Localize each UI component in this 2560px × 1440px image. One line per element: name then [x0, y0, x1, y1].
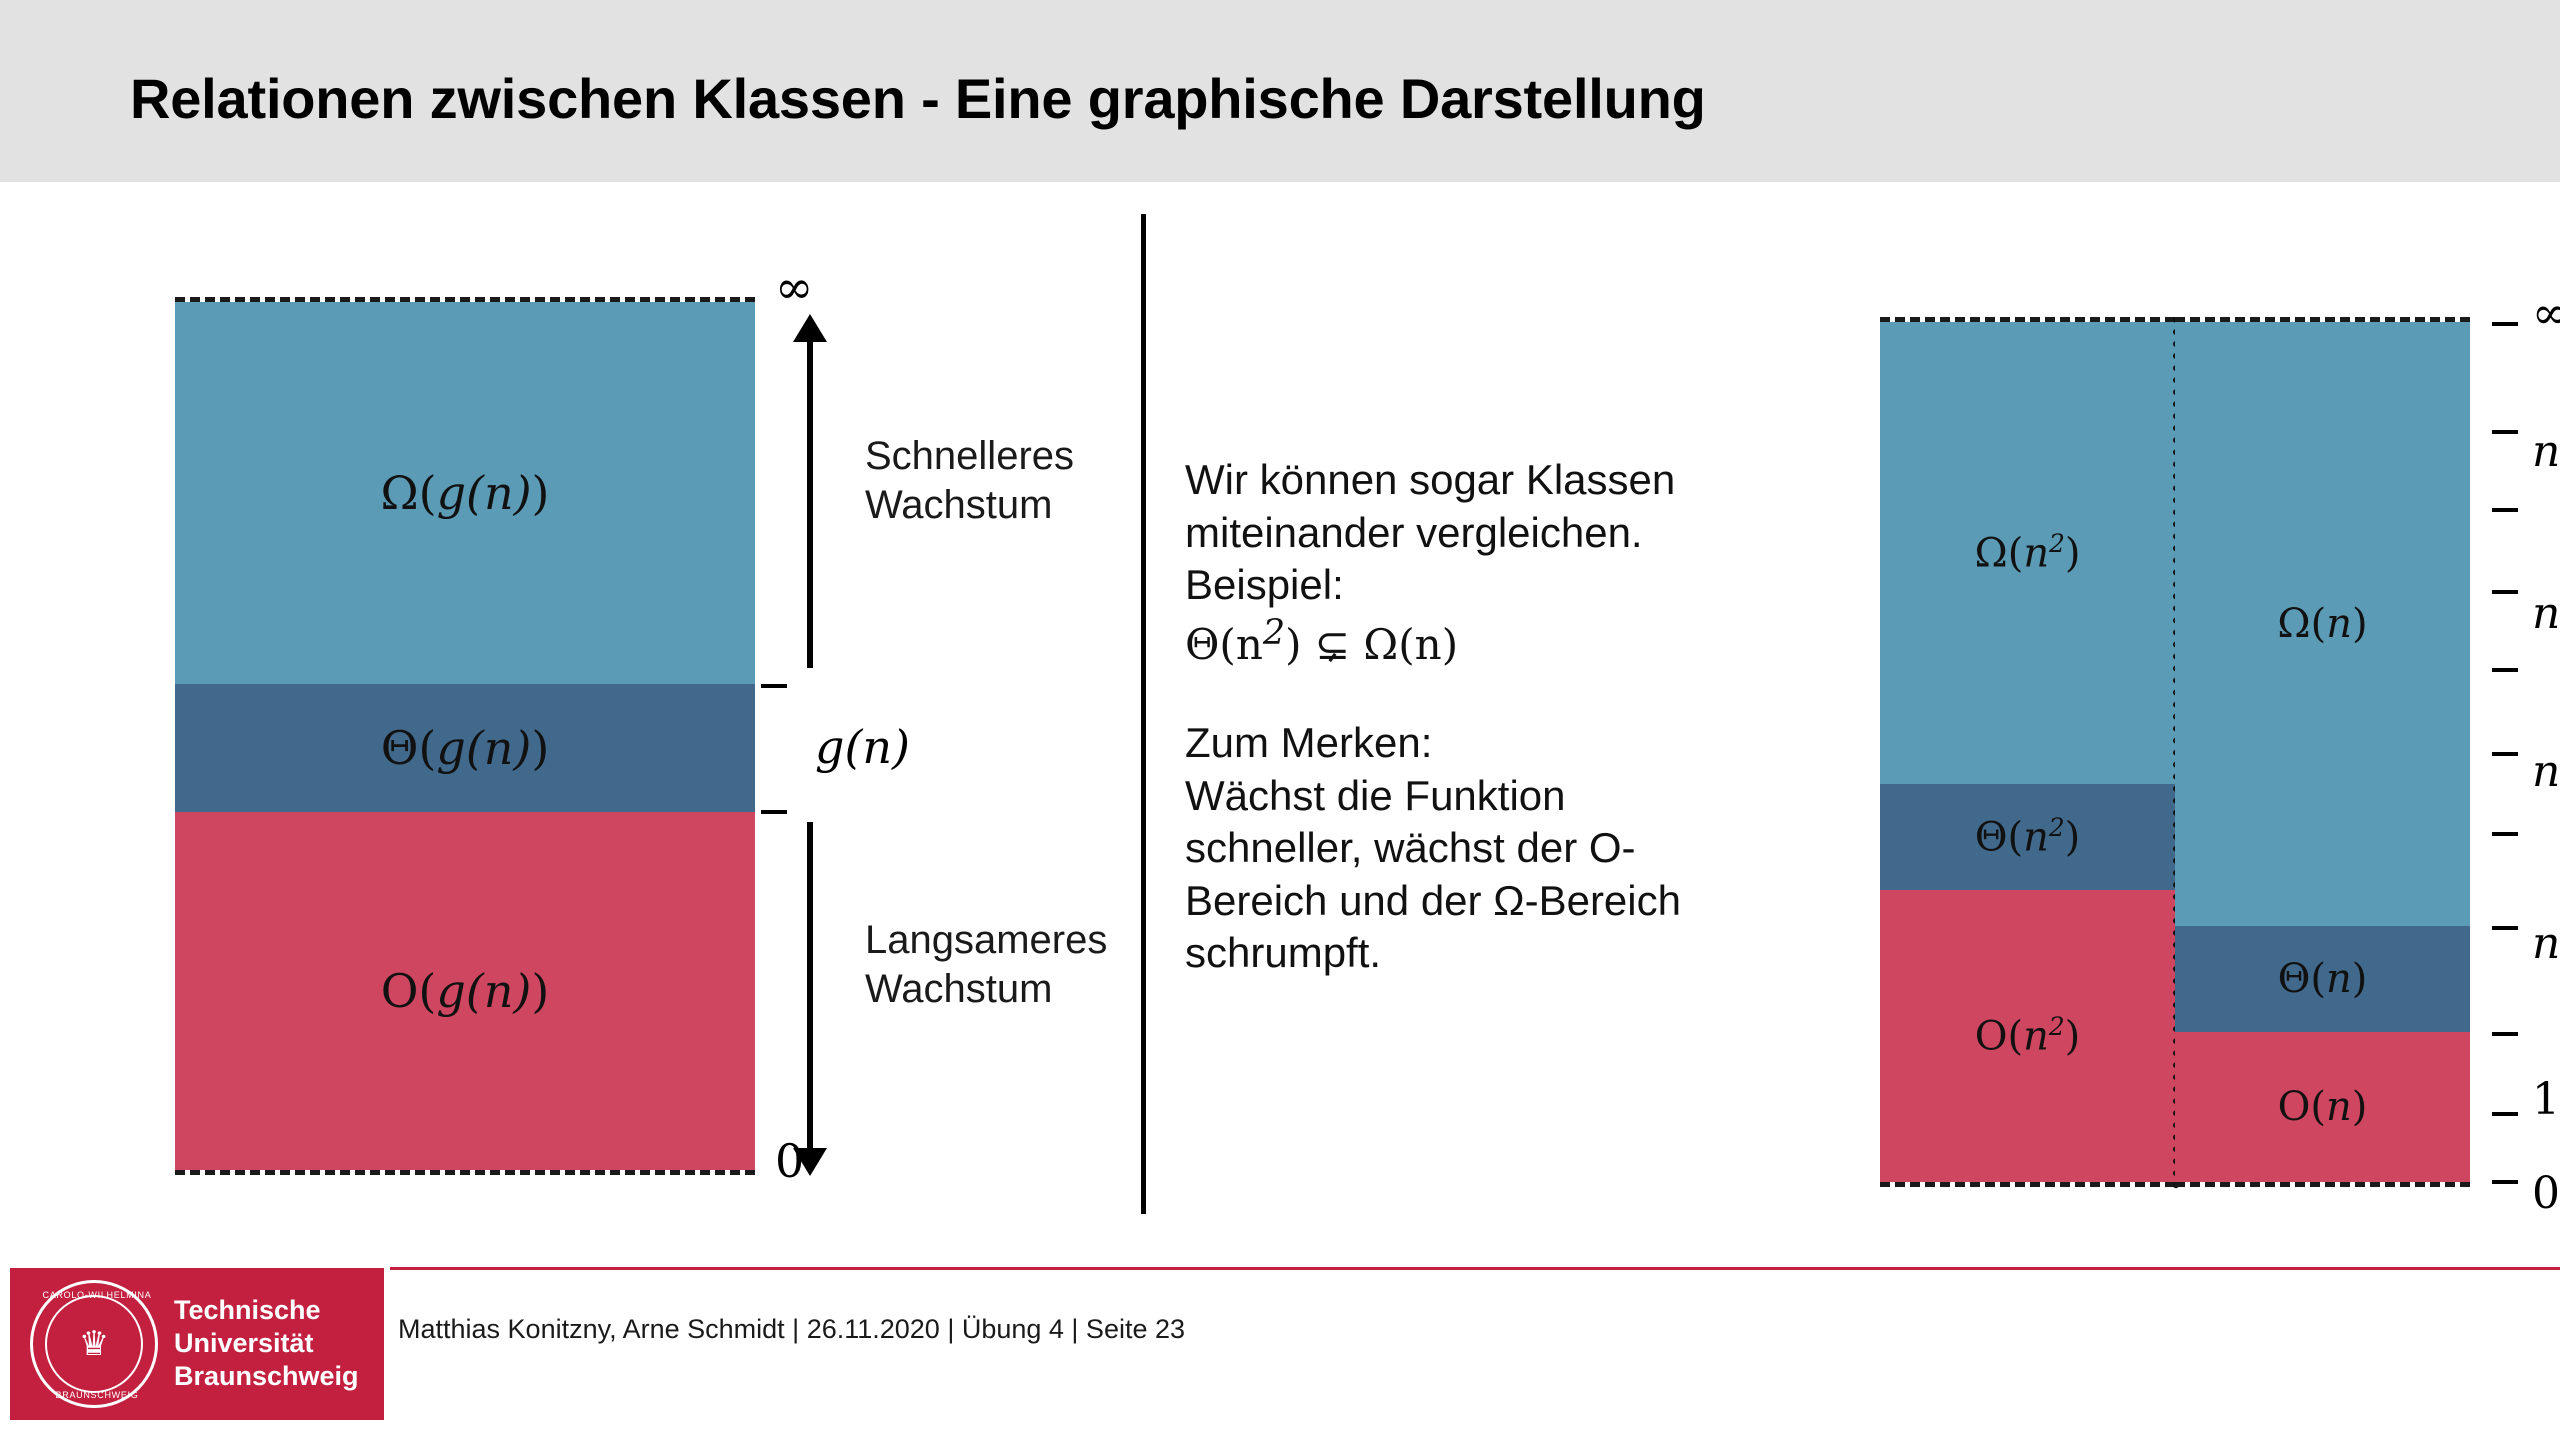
right-segment-omega-n2: Ω(n2) — [1880, 322, 2175, 784]
right-segment-bigo-n2: O(n2) — [1880, 890, 2175, 1182]
example-formula: Θ(n2) ⊊ Ω(n) — [1185, 612, 1915, 672]
theta-n2-prefix: Θ( — [1975, 815, 2023, 861]
right-segment-theta-n2: Θ(n2) — [1880, 784, 2175, 890]
remember-line-2: Wächst die Funktion — [1185, 770, 1915, 823]
faster-growth-arrow — [807, 338, 813, 668]
omega-n-suffix: ) — [2352, 601, 2368, 647]
bigo-n2-prefix: O( — [1975, 1014, 2023, 1060]
omega-n2-var: n — [2023, 531, 2049, 577]
arrow-head-down-icon — [793, 1148, 827, 1176]
bigo-n-var: n — [2326, 1084, 2352, 1130]
scale-label-n2: n2 — [2532, 746, 2560, 797]
theta-paren-close: ) — [531, 721, 549, 775]
right-column-n-squared: Ω(n2) Θ(n2) O(n2) — [1880, 322, 2175, 1182]
scale-tick-n4-b — [2492, 508, 2518, 512]
logo-wordmark: Technische Universität Braunschweig — [174, 1294, 359, 1393]
scale-tick-zero — [2492, 1180, 2518, 1184]
omega-symbol: Ω( — [380, 466, 436, 520]
left-segment-theta-label: Θ(g(n)) — [381, 721, 550, 775]
scale-tick-infinity — [2492, 322, 2518, 326]
omega-paren-close: ) — [532, 466, 550, 520]
arrow-head-up-icon — [793, 314, 827, 342]
left-tick-lower — [761, 810, 787, 814]
left-segment-omega-label: Ω(g(n)) — [380, 466, 549, 520]
scale-label-n4-base: n — [2532, 426, 2560, 477]
right-segment-theta-n: Θ(n) — [2175, 926, 2470, 1032]
scale-tick-n2-a — [2492, 752, 2518, 756]
right-comparison-diagram: Ω(n2) Θ(n2) O(n2) Ω(n) Θ(n) O(n) — [1880, 322, 2490, 1182]
bigo-arg: g(n) — [436, 964, 531, 1018]
theta-symbol: Θ( — [381, 721, 437, 775]
scale-tick-n-a — [2492, 926, 2518, 930]
explanation-line-3: Beispiel: — [1185, 559, 1915, 612]
scale-label-n4: n4 — [2532, 426, 2560, 477]
scale-tick-one — [2492, 1112, 2518, 1116]
right-right-bottom-dashed-line — [2175, 1182, 2470, 1187]
theta-n-suffix: ) — [2352, 956, 2368, 1002]
left-segment-bigo-label: O(g(n)) — [381, 964, 550, 1018]
bigo-n-prefix: O( — [2278, 1084, 2326, 1130]
scale-label-n3: n3 — [2532, 588, 2560, 639]
explanation-line-2: miteinander vergleichen. — [1185, 507, 1915, 560]
logo-line-3: Braunschweig — [174, 1360, 359, 1393]
slower-growth-line1: Langsameres — [865, 916, 1107, 965]
page-title: Relationen zwischen Klassen - Eine graph… — [130, 66, 1706, 131]
scale-label-n3-base: n — [2532, 588, 2560, 639]
seal-text-bottom: BRAUNSCHWEIG — [33, 1390, 161, 1400]
explanation-line-1: Wir können sogar Klassen — [1185, 454, 1915, 507]
slower-growth-label: Langsameres Wachstum — [865, 916, 1107, 1014]
slide-footer: Matthias Konitzny, Arne Schmidt | 26.11.… — [0, 1252, 2560, 1440]
slide-header: Relationen zwischen Klassen - Eine graph… — [0, 0, 2560, 182]
scale-tick-n3-a — [2492, 590, 2518, 594]
omega-n2-suffix: ) — [2065, 531, 2081, 577]
scale-label-one: 1 — [2532, 1074, 2560, 1125]
right-segment-omega-n2-label: Ω(n2) — [1975, 529, 2081, 576]
bigo-paren-close: ) — [531, 964, 549, 1018]
scale-tick-n3-b — [2492, 668, 2518, 672]
theta-n-var: n — [2326, 956, 2352, 1002]
left-segment-theta: Θ(g(n)) — [175, 684, 755, 812]
slower-growth-arrow — [807, 822, 813, 1152]
theta-n2-sup: 2 — [2049, 813, 2065, 842]
scale-label-infinity: ∞ — [2532, 288, 2560, 339]
remember-line-5: schrumpft. — [1185, 927, 1915, 980]
scale-label-zero: 0 — [2532, 1168, 2560, 1219]
right-segment-bigo-n2-label: O(n2) — [1975, 1012, 2081, 1059]
text-spacer — [1185, 671, 1915, 717]
left-segment-bigo: O(g(n)) — [175, 812, 755, 1170]
left-bottom-dashed-line — [175, 1170, 755, 1175]
logo-line-1: Technische — [174, 1294, 359, 1327]
bigo-n2-var: n — [2023, 1014, 2049, 1060]
omega-arg: g(n) — [437, 466, 532, 520]
scale-tick-n-b — [2492, 1032, 2518, 1036]
faster-growth-line1: Schnelleres — [865, 432, 1074, 481]
logo-line-2: Universität — [174, 1327, 359, 1360]
omega-n-var: n — [2326, 601, 2352, 647]
bigo-symbol: O( — [381, 964, 437, 1018]
omega-n2-sup: 2 — [2049, 529, 2065, 558]
faster-growth-line2: Wachstum — [865, 481, 1074, 530]
right-segment-theta-n-label: Θ(n) — [2278, 956, 2368, 1002]
left-bar-column: Ω(g(n)) Θ(g(n)) O(g(n)) — [175, 302, 755, 1170]
university-seal-icon: CAROLO-WILHELMINA ♛ BRAUNSCHWEIG — [30, 1280, 158, 1408]
right-segment-bigo-n: O(n) — [2175, 1032, 2470, 1182]
right-left-bottom-dashed-line — [1880, 1182, 2175, 1187]
bigo-n2-suffix: ) — [2065, 1014, 2081, 1060]
scale-label-n: n — [2532, 918, 2560, 969]
left-growth-diagram: Ω(g(n)) Θ(g(n)) O(g(n)) ∞ g(n) 0 Schnell… — [175, 302, 755, 1170]
scale-label-n2-base: n — [2532, 746, 2560, 797]
theta-n2-var: n — [2023, 815, 2049, 861]
right-segment-bigo-n-label: O(n) — [2278, 1084, 2368, 1130]
omega-n-prefix: Ω( — [2277, 601, 2326, 647]
formula-rest: ) ⊊ Ω(n) — [1285, 620, 1458, 669]
remember-line-1: Zum Merken: — [1185, 717, 1915, 770]
slower-growth-line2: Wachstum — [865, 965, 1107, 1014]
footer-divider-line — [390, 1267, 2560, 1270]
remember-line-4: Bereich und der Ω-Bereich — [1185, 875, 1915, 928]
scale-tick-n4-a — [2492, 430, 2518, 434]
formula-exponent: 2 — [1263, 613, 1285, 653]
omega-n2-prefix: Ω( — [1975, 531, 2024, 577]
scale-tick-n2-b — [2492, 832, 2518, 836]
footer-metadata: Matthias Konitzny, Arne Schmidt | 26.11.… — [398, 1314, 1185, 1345]
right-segment-omega-n: Ω(n) — [2175, 322, 2470, 926]
right-segment-omega-n-label: Ω(n) — [2277, 601, 2367, 647]
left-segment-omega: Ω(g(n)) — [175, 302, 755, 684]
bigo-n-suffix: ) — [2352, 1084, 2368, 1130]
left-axis-label-infinity: ∞ — [775, 260, 813, 314]
left-tick-upper — [761, 684, 787, 688]
bigo-n2-sup: 2 — [2049, 1012, 2065, 1041]
vertical-divider — [1141, 214, 1146, 1214]
remember-line-3: schneller, wächst der O- — [1185, 822, 1915, 875]
tu-braunschweig-logo: CAROLO-WILHELMINA ♛ BRAUNSCHWEIG Technis… — [10, 1268, 384, 1420]
slide-body: Ω(g(n)) Θ(g(n)) O(g(n)) ∞ g(n) 0 Schnell… — [0, 182, 2560, 1252]
theta-n-prefix: Θ( — [2278, 956, 2326, 1002]
faster-growth-label: Schnelleres Wachstum — [865, 432, 1074, 530]
right-segment-theta-n2-label: Θ(n2) — [1975, 813, 2081, 860]
right-column-n: Ω(n) Θ(n) O(n) — [2175, 322, 2470, 1182]
theta-n2-suffix: ) — [2065, 815, 2081, 861]
explanation-text-block: Wir können sogar Klassen miteinander ver… — [1185, 454, 1915, 980]
left-axis-label-gn: g(n) — [815, 720, 910, 774]
seal-inner-emblem-icon: ♛ — [45, 1295, 143, 1393]
theta-arg: g(n) — [436, 721, 531, 775]
formula-theta-part: Θ(n — [1185, 620, 1263, 669]
